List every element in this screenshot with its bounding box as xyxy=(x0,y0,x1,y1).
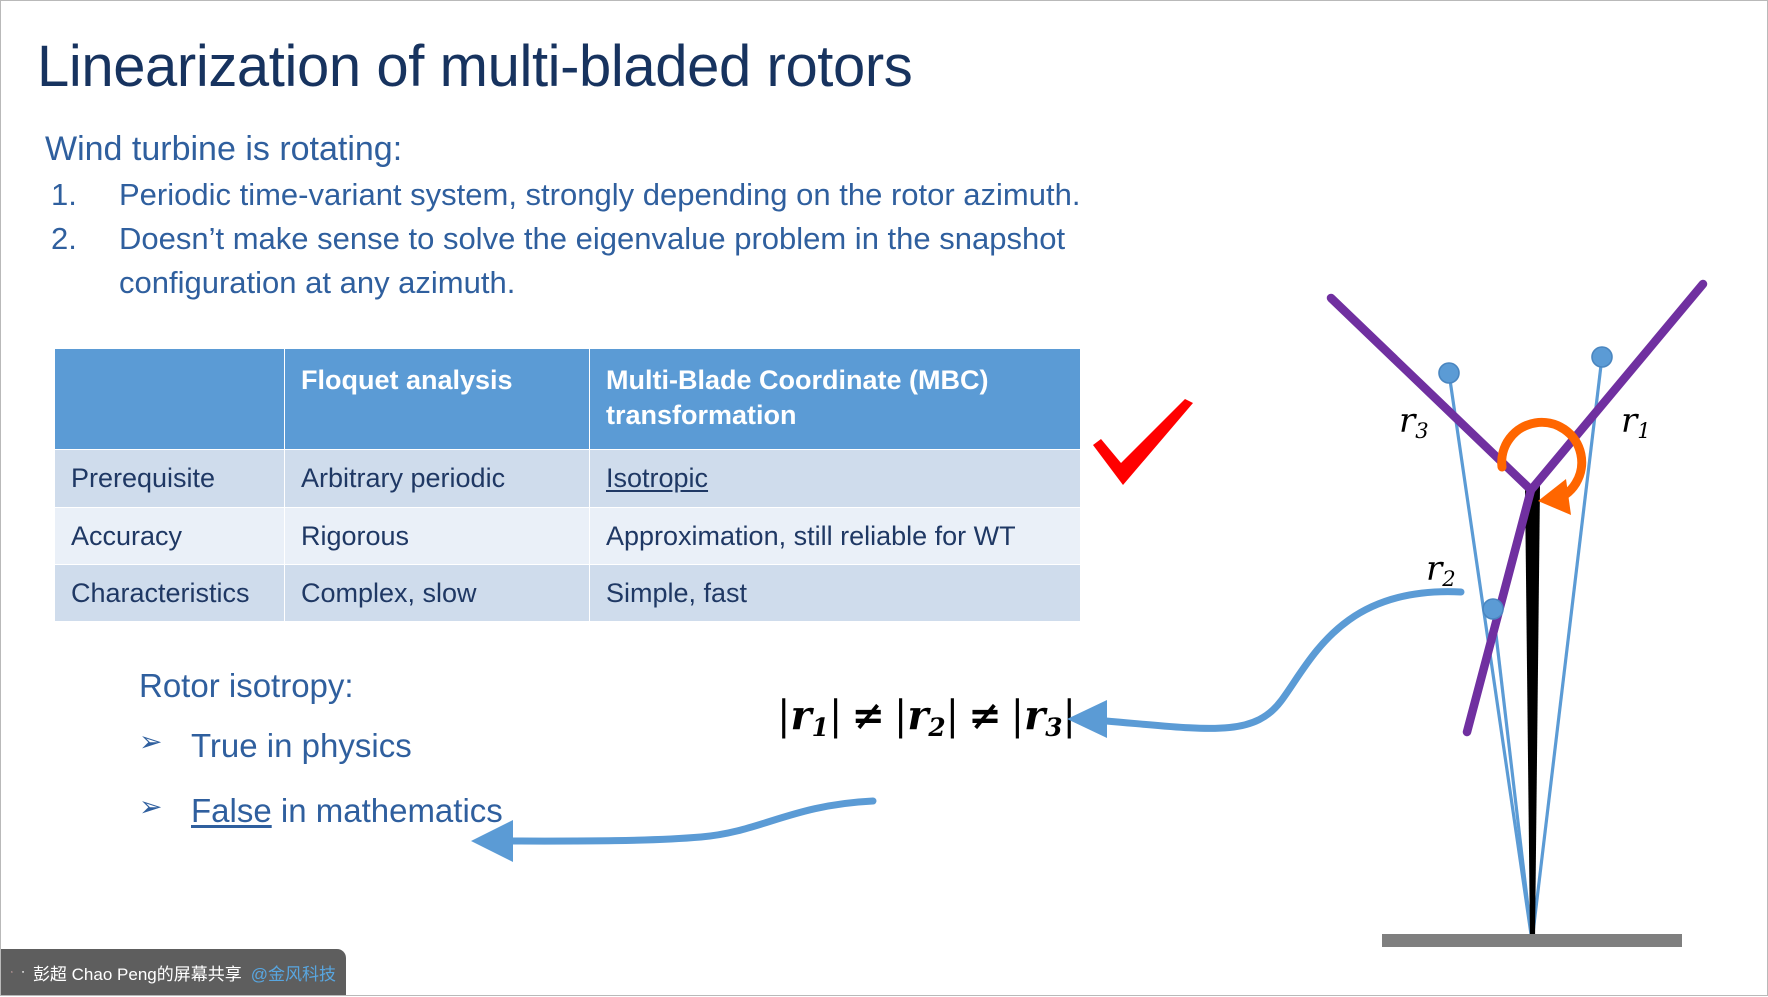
rotation-arrow-head xyxy=(1538,479,1571,515)
annotation-arrow-right xyxy=(1081,592,1461,729)
table-row: Prerequisite Arbitrary periodic Isotropi… xyxy=(55,450,1081,507)
red-check-icon xyxy=(1089,399,1199,491)
formula-r3: r xyxy=(1024,692,1045,739)
table-row: Accuracy Rigorous Approximation, still r… xyxy=(55,507,1081,564)
cell-floquet: Rigorous xyxy=(285,507,590,564)
abs-bar-close: | xyxy=(1062,693,1075,739)
row-label: Accuracy xyxy=(55,507,285,564)
table-row: Characteristics Complex, slow Simple, fa… xyxy=(55,564,1081,621)
cell-mbc: Approximation, still reliable for WT xyxy=(590,507,1081,564)
abs-bar-open: | xyxy=(1011,693,1024,739)
not-equal-sign: ≠ xyxy=(842,692,894,739)
page-title: Linearization of multi-bladed rotors xyxy=(37,37,1137,98)
cell-floquet: Complex, slow xyxy=(285,564,590,621)
node-r1 xyxy=(1592,347,1612,367)
arrow-bullet-icon: ➢ xyxy=(139,790,162,824)
blade-1 xyxy=(1531,284,1703,490)
table-header-mbc: Multi-Blade Coordinate (MBC) transformat… xyxy=(590,349,1081,450)
intro-lead: Wind turbine is rotating: xyxy=(45,129,1165,169)
list-item: ➢ True in physics xyxy=(139,726,503,766)
intro-block: Wind turbine is rotating: 1. Periodic ti… xyxy=(45,129,1165,305)
formula-r3-sub: 3 xyxy=(1045,713,1062,742)
rotor-blades xyxy=(1331,284,1703,732)
arrow-bullet-icon: ➢ xyxy=(139,725,162,759)
screen-share-icon[interactable] xyxy=(22,962,24,982)
abs-bar-close: | xyxy=(829,693,842,739)
formula-r2: r xyxy=(907,692,928,739)
formula-r1-sub: 1 xyxy=(812,713,829,742)
list-item-label: Doesn’t make sense to solve the eigenval… xyxy=(119,221,1065,300)
list-item: 2. Doesn’t make sense to solve the eigen… xyxy=(45,217,1165,305)
tower xyxy=(1525,486,1540,941)
cell-mbc-text: Isotropic xyxy=(606,463,708,493)
radius-lines xyxy=(1449,357,1602,941)
ground-bar xyxy=(1382,934,1682,947)
list-item-number: 1. xyxy=(51,173,109,217)
radius-line-r3 xyxy=(1449,373,1532,941)
radius-line-r2 xyxy=(1493,609,1532,941)
list-item-label: True in physics xyxy=(191,727,412,764)
node-r2 xyxy=(1483,599,1503,619)
intro-list: 1. Periodic time-variant system, strongl… xyxy=(45,173,1165,305)
abs-bar-open: | xyxy=(777,693,790,739)
blade-3 xyxy=(1331,298,1531,490)
cell-floquet: Arbitrary periodic xyxy=(285,450,590,507)
radius-label-r1: r1 xyxy=(1621,401,1651,443)
table-header-floquet: Floquet analysis xyxy=(285,349,590,450)
screen-share-taskbar[interactable]: 彭超 Chao Peng的屏幕共享 @金风科技 xyxy=(1,949,346,995)
abs-bar-close: | xyxy=(946,693,959,739)
abs-bar-open: | xyxy=(894,693,907,739)
rotation-arrow-icon xyxy=(1502,422,1582,501)
table-header-row: Floquet analysis Multi-Blade Coordinate … xyxy=(55,349,1081,450)
inequality-formula: |r1|≠|r2|≠|r3| xyxy=(777,692,1076,742)
radius-label-r2: r2 xyxy=(1426,549,1456,591)
row-label: Prerequisite xyxy=(55,450,285,507)
cell-mbc: Isotropic xyxy=(590,450,1081,507)
list-item-label: in mathematics xyxy=(272,792,503,829)
list-item: 1. Periodic time-variant system, strongl… xyxy=(45,173,1165,217)
list-item-emphasis: False xyxy=(191,792,272,829)
formula-r2-sub: 2 xyxy=(928,713,945,742)
rotor-isotropy-heading: Rotor isotropy: xyxy=(139,666,503,706)
list-item-label: Periodic time-variant system, strongly d… xyxy=(119,177,1080,212)
share-status-text: 彭超 Chao Peng的屏幕共享 xyxy=(33,960,242,985)
cell-mbc: Simple, fast xyxy=(590,564,1081,621)
comparison-table: Floquet analysis Multi-Blade Coordinate … xyxy=(54,348,1081,622)
list-item: ➢ False in mathematics xyxy=(139,791,503,831)
blade-nodes xyxy=(1439,347,1612,619)
radius-line-r1 xyxy=(1532,357,1602,941)
rotor-isotropy-block: Rotor isotropy: ➢ True in physics ➢ Fals… xyxy=(139,666,503,857)
blade-2 xyxy=(1467,490,1531,732)
list-item-number: 2. xyxy=(51,217,109,261)
table-header-blank xyxy=(55,349,285,450)
radius-label-r3: r3 xyxy=(1399,401,1429,443)
formula-r1: r xyxy=(790,692,811,739)
annotation-arrow-left xyxy=(489,801,873,841)
node-r3 xyxy=(1439,363,1459,383)
share-org-text: @金风科技 xyxy=(251,960,336,985)
slide-canvas: Linearization of multi-bladed rotors Win… xyxy=(0,0,1768,996)
row-label: Characteristics xyxy=(55,564,285,621)
microphone-muted-icon[interactable] xyxy=(11,960,13,984)
not-equal-sign: ≠ xyxy=(959,692,1011,739)
